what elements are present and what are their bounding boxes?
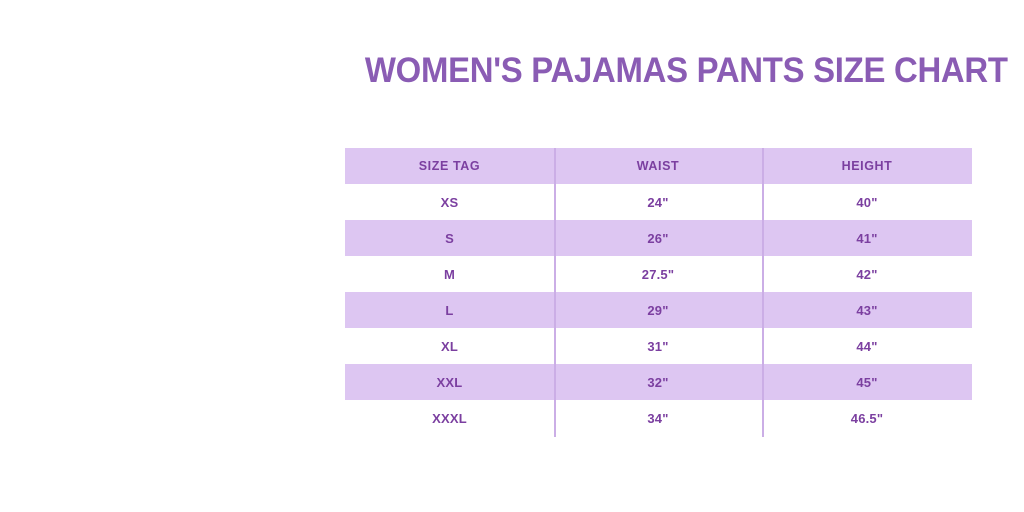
cell-waist: 24": [554, 184, 762, 220]
cell-size-tag: XS: [345, 184, 554, 220]
cell-height: 41": [762, 220, 972, 256]
cell-height: 40": [762, 184, 972, 220]
column-divider-second: [762, 148, 764, 437]
column-divider-first: [554, 148, 556, 437]
cell-size-tag: XL: [345, 328, 554, 364]
cell-size-tag: L: [345, 292, 554, 328]
cell-size-tag: XXXL: [345, 400, 554, 436]
cell-height: 45": [762, 364, 972, 400]
table-header-row: SIZE TAG WAIST HEIGHT: [345, 148, 972, 184]
table-row: XXXL 34" 46.5": [345, 400, 972, 436]
cell-waist: 32": [554, 364, 762, 400]
column-header-size-tag: SIZE TAG: [345, 148, 554, 184]
table-row: S 26" 41": [345, 220, 972, 256]
cell-size-tag: M: [345, 256, 554, 292]
table-row: XS 24" 40": [345, 184, 972, 220]
cell-height: 46.5": [762, 400, 972, 436]
column-header-height: HEIGHT: [762, 148, 972, 184]
cell-waist: 34": [554, 400, 762, 436]
cell-waist: 26": [554, 220, 762, 256]
size-chart-page: WOMEN'S PAJAMAS PANTS SIZE CHART SIZE TA…: [0, 0, 1024, 512]
cell-height: 44": [762, 328, 972, 364]
column-header-waist: WAIST: [554, 148, 762, 184]
table-row: XXL 32" 45": [345, 364, 972, 400]
cell-waist: 31": [554, 328, 762, 364]
cell-waist: 29": [554, 292, 762, 328]
cell-waist: 27.5": [554, 256, 762, 292]
table-row: XL 31" 44": [345, 328, 972, 364]
cell-size-tag: S: [345, 220, 554, 256]
cell-size-tag: XXL: [345, 364, 554, 400]
cell-height: 43": [762, 292, 972, 328]
cell-height: 42": [762, 256, 972, 292]
table-row: L 29" 43": [345, 292, 972, 328]
page-title: WOMEN'S PAJAMAS PANTS SIZE CHART: [365, 52, 988, 90]
table-row: M 27.5" 42": [345, 256, 972, 292]
size-chart-table: SIZE TAG WAIST HEIGHT XS 24" 40" S 26" 4…: [345, 148, 972, 436]
